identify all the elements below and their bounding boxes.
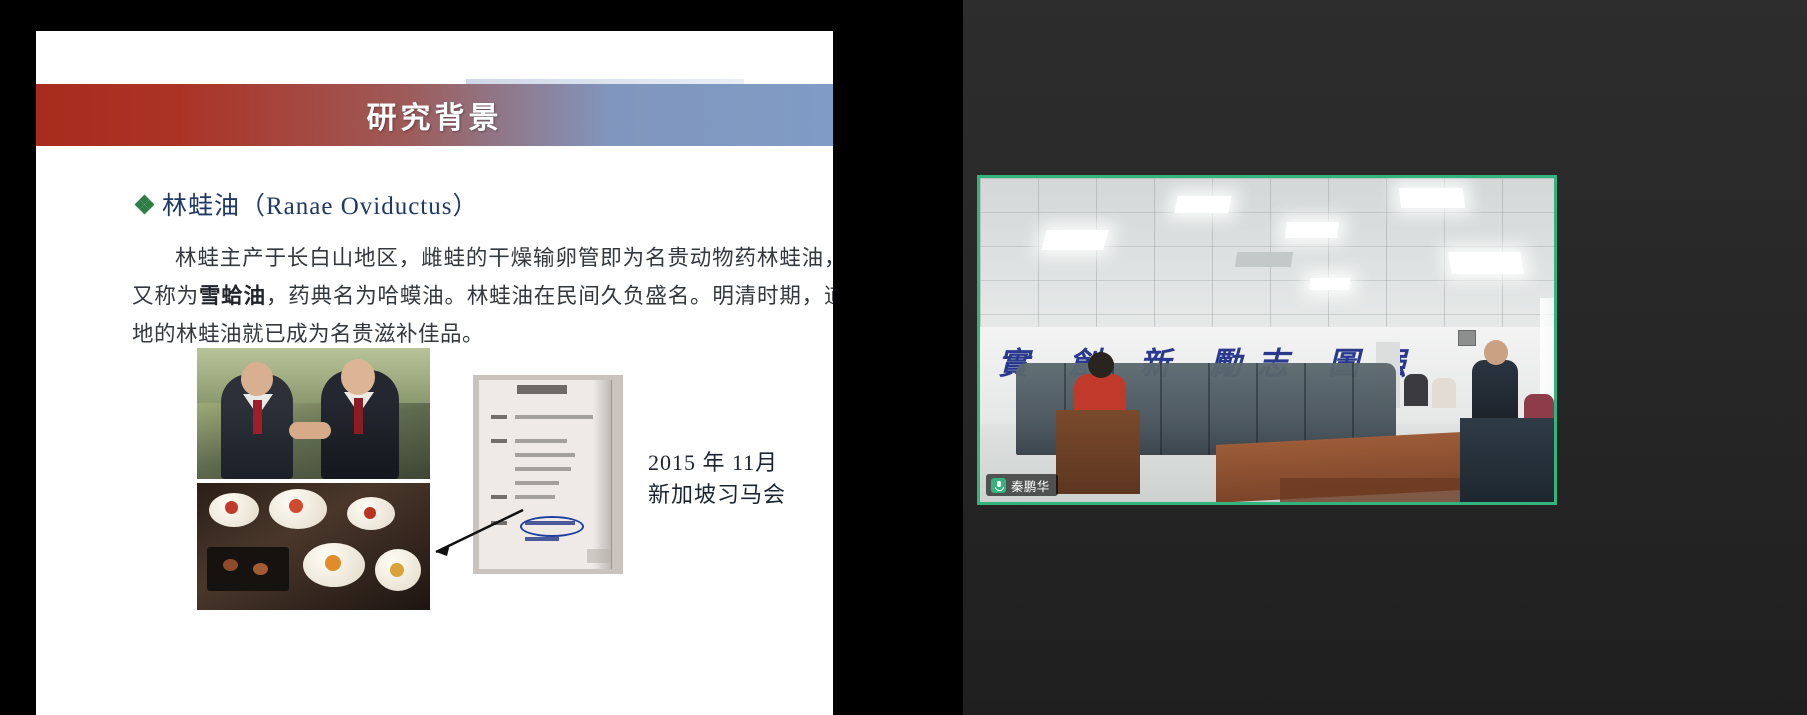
presentation-slide: 研究背景 林蛙油（Ranae Oviductus） 林蛙主产于长白山地区，雌蛙的… [36,31,833,715]
microphone-icon [991,478,1006,493]
diamond-bullet-icon [136,196,152,212]
slide-subtitle: 林蛙油（Ranae Oviductus） [136,186,479,222]
participant-video-tile[interactable]: 實 創 新 勵志 圖强 [977,175,1557,505]
participant-name-tag: 秦鹏华 [986,474,1058,496]
highlight-oval [520,516,584,537]
screen-share-region: 研究背景 林蛙油（Ranae Oviductus） 林蛙主产于长白山地区，雌蛙的… [0,0,963,715]
slide-annotation: 2015 年 11月 新加坡习马会 [648,447,828,511]
video-panel: 實 創 新 勵志 圖强 [963,0,1807,715]
slide-title-banner: 研究背景 [36,84,833,146]
annotation-line-2: 新加坡习马会 [648,479,828,511]
slide-body-paragraph: 林蛙主产于长白山地区，雌蛙的干燥输卵管即为名贵动物药林蛙油，又称为雪蛤油，药典名… [132,239,833,353]
annotation-line-1: 2015 年 11月 [648,447,828,479]
banquet-food-photo [197,483,430,610]
participant-name-label: 秦鹏华 [1011,476,1050,495]
handshake-photo [197,348,430,479]
slide-subtitle-label: 林蛙油（Ranae Oviductus） [162,186,479,222]
page-title: 研究背景 [367,93,503,137]
banquet-menu-photo [473,375,623,574]
conference-room-scene: 實 創 新 勵志 圖强 [980,178,1554,502]
zoom-meeting-screen: 研究背景 林蛙油（Ranae Oviductus） 林蛙主产于长白山地区，雌蛙的… [0,0,1807,715]
